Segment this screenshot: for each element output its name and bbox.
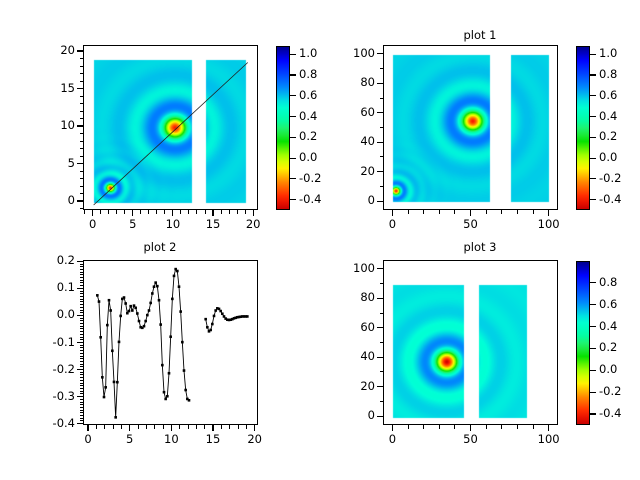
colorbar-tick-label: 0.4 bbox=[599, 321, 617, 333]
axes-frame-topleft bbox=[83, 45, 258, 210]
y-tick-minor bbox=[80, 399, 84, 400]
x-tick-minor bbox=[439, 425, 440, 429]
x-tick-minor bbox=[146, 425, 147, 429]
y-tick-minor bbox=[80, 73, 84, 74]
line-marker bbox=[114, 416, 117, 419]
y-tick-major bbox=[77, 315, 83, 316]
y-tick-minor bbox=[80, 208, 84, 209]
y-tick-major bbox=[377, 327, 383, 328]
x-tick-major bbox=[212, 425, 213, 431]
x-tick-label: 10 bbox=[149, 434, 193, 446]
x-tick-minor bbox=[205, 210, 206, 214]
y-tick-minor bbox=[80, 418, 84, 419]
colorbar-tick bbox=[590, 158, 596, 159]
x-tick-minor bbox=[154, 425, 155, 429]
y-tick-minor bbox=[80, 280, 84, 281]
y-tick-major bbox=[77, 88, 83, 89]
line-marker bbox=[171, 298, 174, 301]
line-marker bbox=[246, 315, 249, 318]
y-tick-major bbox=[377, 386, 383, 387]
line-marker bbox=[99, 336, 102, 339]
x-tick-minor bbox=[138, 425, 139, 429]
line-marker bbox=[173, 275, 176, 278]
colorbar-tick-label: 0.8 bbox=[599, 69, 617, 81]
y-tick-minor bbox=[80, 58, 84, 59]
y-tick-major bbox=[377, 298, 383, 299]
x-tick-label: 20 bbox=[231, 219, 275, 231]
x-tick-minor bbox=[439, 210, 440, 214]
colorbar-tick bbox=[590, 178, 596, 179]
line-marker bbox=[118, 341, 121, 344]
x-tick-minor bbox=[517, 425, 518, 429]
colorbar-tick-label: 0.6 bbox=[299, 90, 317, 102]
x-tick-major bbox=[171, 425, 172, 431]
y-tick-minor bbox=[80, 323, 84, 324]
colorbar-tick-label: 0.0 bbox=[599, 152, 617, 164]
line-marker bbox=[98, 300, 101, 303]
line-marker bbox=[144, 320, 147, 323]
line-marker bbox=[143, 325, 146, 328]
y-tick-major bbox=[377, 416, 383, 417]
y-tick-minor bbox=[80, 178, 84, 179]
y-tick-minor bbox=[80, 193, 84, 194]
colorbar-tick-label: 0.4 bbox=[599, 111, 617, 123]
line-marker bbox=[131, 309, 134, 312]
axes-frame-bottomleft bbox=[83, 260, 258, 425]
line-marker bbox=[163, 391, 166, 394]
x-tick-minor bbox=[246, 425, 247, 429]
y-tick-label: 0 bbox=[321, 410, 375, 422]
line-marker bbox=[176, 270, 179, 273]
colorbar-tick bbox=[290, 54, 296, 55]
y-tick-minor bbox=[80, 366, 84, 367]
y-tick-label: 40 bbox=[321, 351, 375, 363]
y-tick-major bbox=[77, 50, 83, 51]
y-tick-label: 15 bbox=[21, 83, 75, 95]
colorbar-tick-label: -0.2 bbox=[599, 386, 621, 398]
y-tick-label: 0 bbox=[21, 195, 75, 207]
line-marker bbox=[156, 285, 159, 288]
y-tick-minor bbox=[80, 404, 84, 405]
y-tick-minor bbox=[80, 388, 84, 389]
y-tick-major bbox=[77, 261, 83, 262]
x-tick-minor bbox=[501, 210, 502, 214]
line-marker bbox=[134, 307, 137, 310]
axes-frame-topright bbox=[383, 45, 558, 210]
x-tick-minor bbox=[121, 425, 122, 429]
colorbar-tick-label: 0.8 bbox=[299, 69, 317, 81]
y-tick-minor bbox=[80, 393, 84, 394]
y-tick-minor bbox=[80, 312, 84, 313]
y-tick-minor bbox=[80, 272, 84, 273]
y-tick-minor bbox=[80, 361, 84, 362]
y-tick-major bbox=[377, 53, 383, 54]
colorbar-tick bbox=[590, 392, 596, 393]
x-tick-minor bbox=[180, 210, 181, 214]
y-tick-label: 60 bbox=[321, 322, 375, 334]
x-tick-minor bbox=[245, 210, 246, 214]
colorbar-tick bbox=[290, 158, 296, 159]
y-tick-minor bbox=[80, 81, 84, 82]
colorbar-tick-label: -0.2 bbox=[299, 173, 321, 185]
colorbar-tick bbox=[290, 116, 296, 117]
line-marker bbox=[209, 329, 212, 332]
y-tick-minor bbox=[380, 401, 384, 402]
y-tick-label: 20 bbox=[321, 166, 375, 178]
heatmap-canvas-bottomright bbox=[384, 261, 558, 425]
colorbar-tick bbox=[590, 95, 596, 96]
x-tick-minor bbox=[229, 425, 230, 429]
x-tick-minor bbox=[454, 425, 455, 429]
colorbar-tick bbox=[590, 326, 596, 327]
x-tick-major bbox=[548, 210, 549, 216]
y-tick-label: -0.2 bbox=[21, 364, 75, 376]
axes-frame-bottomright bbox=[383, 260, 558, 425]
y-tick-minor bbox=[80, 307, 84, 308]
x-tick-minor bbox=[533, 425, 534, 429]
colorbar-tick-label: 0.2 bbox=[599, 131, 617, 143]
line-marker bbox=[158, 299, 161, 302]
y-tick-major bbox=[377, 171, 383, 172]
x-tick-minor bbox=[196, 210, 197, 214]
x-tick-minor bbox=[221, 210, 222, 214]
y-tick-minor bbox=[80, 402, 84, 403]
line-marker bbox=[151, 292, 154, 295]
x-tick-label: 20 bbox=[233, 434, 277, 446]
y-tick-minor bbox=[80, 334, 84, 335]
line-marker bbox=[184, 389, 187, 392]
colorbar-tick bbox=[590, 199, 596, 200]
x-tick-major bbox=[212, 210, 213, 216]
y-tick-major bbox=[77, 125, 83, 126]
x-tick-minor bbox=[108, 210, 109, 214]
x-tick-major bbox=[392, 425, 393, 431]
y-tick-minor bbox=[80, 353, 84, 354]
y-tick-major bbox=[377, 201, 383, 202]
heatmap-canvas-topleft bbox=[84, 46, 258, 210]
y-tick-minor bbox=[80, 364, 84, 365]
y-tick-major bbox=[77, 369, 83, 370]
line-marker bbox=[101, 376, 104, 379]
colorbar-tick-label: 0.0 bbox=[299, 152, 317, 164]
x-tick-minor bbox=[148, 210, 149, 214]
line-marker bbox=[183, 369, 186, 372]
y-tick-minor bbox=[80, 407, 84, 408]
y-tick-label: -0.3 bbox=[21, 391, 75, 403]
y-tick-minor bbox=[80, 410, 84, 411]
y-tick-minor bbox=[80, 266, 84, 267]
y-tick-minor bbox=[80, 350, 84, 351]
y-tick-label: 80 bbox=[321, 292, 375, 304]
line-marker bbox=[211, 323, 214, 326]
y-tick-minor bbox=[80, 420, 84, 421]
x-tick-minor bbox=[486, 425, 487, 429]
figure-canvas: 0510152005101520 1.00.80.60.40.20.0-0.2-… bbox=[0, 0, 640, 480]
line-marker bbox=[129, 305, 132, 308]
y-tick-minor bbox=[80, 186, 84, 187]
panel-bottomleft: plot 2 051015200.20.10.0-0.1-0.2-0.3-0.4 bbox=[0, 240, 320, 480]
y-tick-minor bbox=[80, 310, 84, 311]
y-tick-label: -0.4 bbox=[21, 418, 75, 430]
y-tick-minor bbox=[80, 374, 84, 375]
line-marker bbox=[109, 309, 112, 312]
x-tick-minor bbox=[517, 210, 518, 214]
x-tick-minor bbox=[454, 210, 455, 214]
line-marker bbox=[188, 399, 191, 402]
line-marker bbox=[148, 309, 151, 312]
y-tick-minor bbox=[80, 331, 84, 332]
colorbar-tick bbox=[290, 95, 296, 96]
colorbar-bottomright bbox=[576, 261, 590, 425]
x-tick-minor bbox=[179, 425, 180, 429]
y-tick-minor bbox=[80, 301, 84, 302]
line-marker bbox=[181, 341, 184, 344]
panel-topleft: 0510152005101520 1.00.80.60.40.20.0-0.2-… bbox=[0, 0, 320, 240]
line-marker bbox=[119, 315, 122, 318]
y-tick-label: 0.1 bbox=[21, 282, 75, 294]
y-tick-minor bbox=[380, 186, 384, 187]
y-tick-minor bbox=[80, 274, 84, 275]
y-tick-label: 0.0 bbox=[21, 309, 75, 321]
y-tick-minor bbox=[80, 118, 84, 119]
y-tick-minor bbox=[80, 66, 84, 67]
x-tick-label: 15 bbox=[191, 219, 235, 231]
line-marker bbox=[166, 395, 169, 398]
y-tick-minor bbox=[80, 318, 84, 319]
y-tick-label: 20 bbox=[321, 381, 375, 393]
x-tick-minor bbox=[96, 425, 97, 429]
x-tick-major bbox=[253, 210, 254, 216]
y-tick-minor bbox=[380, 371, 384, 372]
x-tick-label: 0 bbox=[370, 219, 414, 231]
x-tick-minor bbox=[229, 210, 230, 214]
colorbar-tick bbox=[590, 413, 596, 414]
x-tick-major bbox=[470, 210, 471, 216]
x-tick-label: 15 bbox=[191, 434, 235, 446]
x-tick-label: 5 bbox=[111, 219, 155, 231]
x-tick-minor bbox=[104, 425, 105, 429]
line-marker bbox=[108, 299, 111, 302]
x-tick-label: 100 bbox=[527, 434, 571, 446]
y-tick-label: 10 bbox=[21, 120, 75, 132]
y-tick-minor bbox=[80, 285, 84, 286]
y-tick-minor bbox=[80, 148, 84, 149]
x-tick-label: 100 bbox=[527, 219, 571, 231]
y-tick-minor bbox=[80, 356, 84, 357]
x-tick-minor bbox=[196, 425, 197, 429]
y-tick-minor bbox=[80, 156, 84, 157]
y-tick-minor bbox=[80, 415, 84, 416]
y-tick-minor bbox=[80, 372, 84, 373]
x-tick-minor bbox=[204, 425, 205, 429]
x-tick-minor bbox=[533, 210, 534, 214]
line-series-svg bbox=[84, 261, 258, 425]
x-tick-major bbox=[87, 425, 88, 431]
y-tick-minor bbox=[80, 377, 84, 378]
y-tick-minor bbox=[80, 141, 84, 142]
colorbar-tick-label: 0.0 bbox=[599, 364, 617, 376]
y-tick-minor bbox=[80, 171, 84, 172]
line-marker bbox=[96, 294, 99, 297]
colorbar-tick bbox=[290, 178, 296, 179]
x-tick-major bbox=[92, 210, 93, 216]
y-tick-minor bbox=[80, 339, 84, 340]
line-marker bbox=[164, 398, 167, 401]
y-tick-minor bbox=[80, 326, 84, 327]
y-tick-major bbox=[377, 112, 383, 113]
colorbar-tick bbox=[590, 282, 596, 283]
x-tick-minor bbox=[113, 425, 114, 429]
colorbar-tick-label: 0.4 bbox=[299, 111, 317, 123]
line-marker bbox=[106, 324, 109, 327]
colorbar-tick-label: 0.2 bbox=[299, 131, 317, 143]
x-tick-minor bbox=[164, 210, 165, 214]
line-marker bbox=[136, 312, 139, 315]
x-tick-minor bbox=[84, 210, 85, 214]
y-tick-label: 5 bbox=[21, 158, 75, 170]
line-marker bbox=[178, 285, 181, 288]
x-tick-minor bbox=[486, 210, 487, 214]
line-marker bbox=[204, 318, 207, 321]
x-tick-label: 50 bbox=[449, 219, 493, 231]
y-tick-minor bbox=[80, 103, 84, 104]
y-tick-label: -0.1 bbox=[21, 337, 75, 349]
colorbar-tick-label: -0.4 bbox=[299, 194, 321, 206]
panel-topright: plot 1 050100020406080100 1.00.80.60.40.… bbox=[320, 0, 640, 240]
colorbar-tick bbox=[590, 137, 596, 138]
x-tick-minor bbox=[237, 210, 238, 214]
y-tick-minor bbox=[80, 277, 84, 278]
colorbar-tick-label: 1.0 bbox=[599, 48, 617, 60]
y-tick-minor bbox=[80, 347, 84, 348]
line-marker bbox=[138, 320, 141, 323]
line-marker bbox=[154, 281, 157, 284]
line-marker bbox=[113, 381, 116, 384]
x-tick-minor bbox=[124, 210, 125, 214]
colorbar-tick bbox=[590, 54, 596, 55]
line-marker bbox=[116, 381, 119, 384]
colorbar-tick bbox=[590, 74, 596, 75]
y-tick-major bbox=[77, 423, 83, 424]
y-tick-minor bbox=[380, 98, 384, 99]
colorbar-topright bbox=[576, 46, 590, 210]
line-marker bbox=[149, 302, 152, 305]
y-tick-major bbox=[77, 342, 83, 343]
x-tick-minor bbox=[188, 210, 189, 214]
y-tick-minor bbox=[80, 264, 84, 265]
y-tick-major bbox=[77, 396, 83, 397]
colorbar-tick bbox=[590, 116, 596, 117]
y-tick-minor bbox=[380, 283, 384, 284]
line-marker bbox=[146, 314, 149, 317]
x-tick-major bbox=[132, 210, 133, 216]
y-tick-minor bbox=[80, 111, 84, 112]
colorbar-tick bbox=[590, 370, 596, 371]
colorbar-tick-label: 0.6 bbox=[599, 299, 617, 311]
colorbar-tick-label: 0.8 bbox=[599, 277, 617, 289]
line-path bbox=[97, 269, 189, 417]
colorbar-tick-label: 1.0 bbox=[299, 48, 317, 60]
panel-title-bottomleft: plot 2 bbox=[0, 240, 320, 254]
y-tick-major bbox=[377, 142, 383, 143]
colorbar-tick bbox=[290, 74, 296, 75]
y-tick-major bbox=[77, 288, 83, 289]
colorbar-tick bbox=[290, 199, 296, 200]
line-marker bbox=[123, 296, 126, 299]
y-tick-label: 100 bbox=[321, 263, 375, 275]
x-tick-minor bbox=[163, 425, 164, 429]
x-tick-label: 10 bbox=[151, 219, 195, 231]
x-tick-major bbox=[254, 425, 255, 431]
x-tick-major bbox=[470, 425, 471, 431]
y-tick-minor bbox=[80, 133, 84, 134]
y-tick-minor bbox=[80, 304, 84, 305]
y-tick-minor bbox=[80, 385, 84, 386]
x-tick-major bbox=[129, 425, 130, 431]
x-tick-minor bbox=[188, 425, 189, 429]
y-tick-minor bbox=[80, 328, 84, 329]
colorbar-tick-label: -0.4 bbox=[599, 408, 621, 420]
x-tick-major bbox=[172, 210, 173, 216]
colorbar-tick-label: -0.4 bbox=[599, 194, 621, 206]
line-marker bbox=[219, 310, 222, 313]
y-tick-minor bbox=[380, 313, 384, 314]
y-tick-label: 0.2 bbox=[21, 255, 75, 267]
y-tick-label: 40 bbox=[321, 136, 375, 148]
y-tick-minor bbox=[380, 68, 384, 69]
colorbar-tick bbox=[590, 348, 596, 349]
x-tick-minor bbox=[156, 210, 157, 214]
y-tick-minor bbox=[380, 127, 384, 128]
line-marker bbox=[128, 310, 131, 313]
x-tick-minor bbox=[408, 210, 409, 214]
line-marker bbox=[161, 364, 164, 367]
line-marker bbox=[221, 312, 224, 315]
y-tick-minor bbox=[80, 383, 84, 384]
y-tick-minor bbox=[80, 412, 84, 413]
x-tick-minor bbox=[408, 425, 409, 429]
y-tick-minor bbox=[80, 320, 84, 321]
x-tick-label: 5 bbox=[108, 434, 152, 446]
x-tick-label: 0 bbox=[71, 219, 115, 231]
colorbar-tick-label: -0.2 bbox=[599, 173, 621, 185]
x-tick-minor bbox=[501, 425, 502, 429]
panel-title-bottomright: plot 3 bbox=[320, 240, 640, 254]
y-tick-minor bbox=[80, 96, 84, 97]
x-tick-major bbox=[548, 425, 549, 431]
y-tick-label: 100 bbox=[321, 48, 375, 60]
line-marker bbox=[213, 315, 216, 318]
colorbar-tick-label: 0.6 bbox=[599, 90, 617, 102]
panel-bottomright: plot 3 050100020406080100 0.80.60.40.20.… bbox=[320, 240, 640, 480]
y-tick-major bbox=[77, 200, 83, 201]
x-tick-minor bbox=[221, 425, 222, 429]
y-tick-major bbox=[377, 357, 383, 358]
y-tick-minor bbox=[80, 380, 84, 381]
line-marker bbox=[168, 372, 171, 375]
y-tick-major bbox=[377, 268, 383, 269]
x-tick-minor bbox=[423, 210, 424, 214]
x-tick-minor bbox=[100, 210, 101, 214]
y-tick-minor bbox=[80, 391, 84, 392]
line-marker bbox=[111, 350, 114, 353]
line-marker bbox=[179, 310, 182, 313]
y-tick-minor bbox=[80, 291, 84, 292]
x-tick-minor bbox=[238, 425, 239, 429]
y-tick-minor bbox=[80, 337, 84, 338]
y-tick-minor bbox=[80, 358, 84, 359]
colorbar-tick bbox=[590, 304, 596, 305]
